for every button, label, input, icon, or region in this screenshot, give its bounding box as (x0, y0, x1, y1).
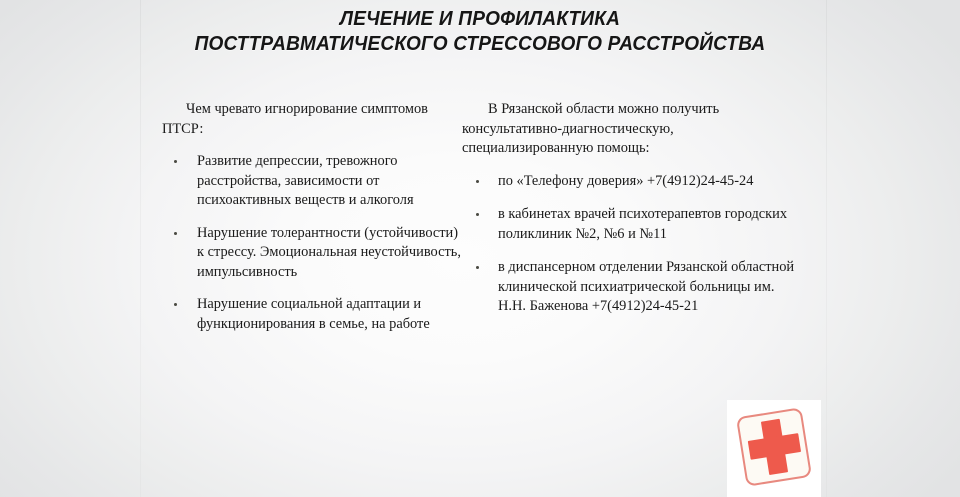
list-item: Нарушение толерантности (устойчивости) к… (162, 224, 462, 283)
list-item: Развитие депрессии, тревожного расстройс… (162, 152, 462, 211)
left-bullet-list: Развитие депрессии, тревожного расстройс… (162, 152, 462, 334)
slide-title-line-2: ПОСТТРАВМАТИЧЕСКОГО СТРЕССОВОГО РАССТРОЙ… (34, 31, 927, 56)
red-cross-icon (736, 407, 812, 486)
slide-title: ЛЕЧЕНИЕ И ПРОФИЛАКТИКА ПОСТТРАВМАТИЧЕСКО… (0, 6, 960, 56)
slide-canvas: ЛЕЧЕНИЕ И ПРОФИЛАКТИКА ПОСТТРАВМАТИЧЕСКО… (0, 0, 960, 497)
list-item: по «Телефону доверия» +7(4912)24-45-24 (462, 172, 802, 192)
list-item-text: по «Телефону доверия» +7(4912)24-45-24 (498, 172, 802, 192)
list-item: в кабинетах врачей психотерапевтов город… (462, 205, 802, 244)
bullet-dot-icon (476, 266, 479, 269)
left-column-intro: Чем чревато игнорирование симптомов ПТСР… (162, 100, 462, 139)
list-item-text: в кабинетах врачей психотерапевтов город… (498, 205, 802, 244)
bullet-dot-icon (174, 232, 177, 235)
bullet-dot-icon (174, 160, 177, 163)
bullet-dot-icon (476, 213, 479, 216)
list-item: Нарушение социальной адаптации и функцио… (162, 295, 462, 334)
red-cross-image-panel (727, 400, 821, 497)
background-seam-right (826, 0, 827, 497)
left-content-column: Чем чревато игнорирование симптомов ПТСР… (162, 100, 462, 334)
list-item-text: в диспансерном отделении Рязанской облас… (498, 258, 802, 317)
bullet-dot-icon (476, 180, 479, 183)
bullet-dot-icon (174, 303, 177, 306)
list-item-text: Нарушение социальной адаптации и функцио… (197, 295, 462, 334)
background-seam-left (140, 0, 141, 497)
list-item-text: Развитие депрессии, тревожного расстройс… (197, 152, 462, 211)
slide-title-line-1: ЛЕЧЕНИЕ И ПРОФИЛАКТИКА (34, 6, 927, 31)
right-column-intro: В Рязанской области можно получить консу… (462, 100, 802, 159)
list-item: в диспансерном отделении Рязанской облас… (462, 258, 802, 317)
list-item-text: Нарушение толерантности (устойчивости) к… (197, 224, 462, 283)
right-bullet-list: по «Телефону доверия» +7(4912)24-45-24 в… (462, 172, 802, 317)
right-content-column: В Рязанской области можно получить консу… (462, 100, 802, 331)
